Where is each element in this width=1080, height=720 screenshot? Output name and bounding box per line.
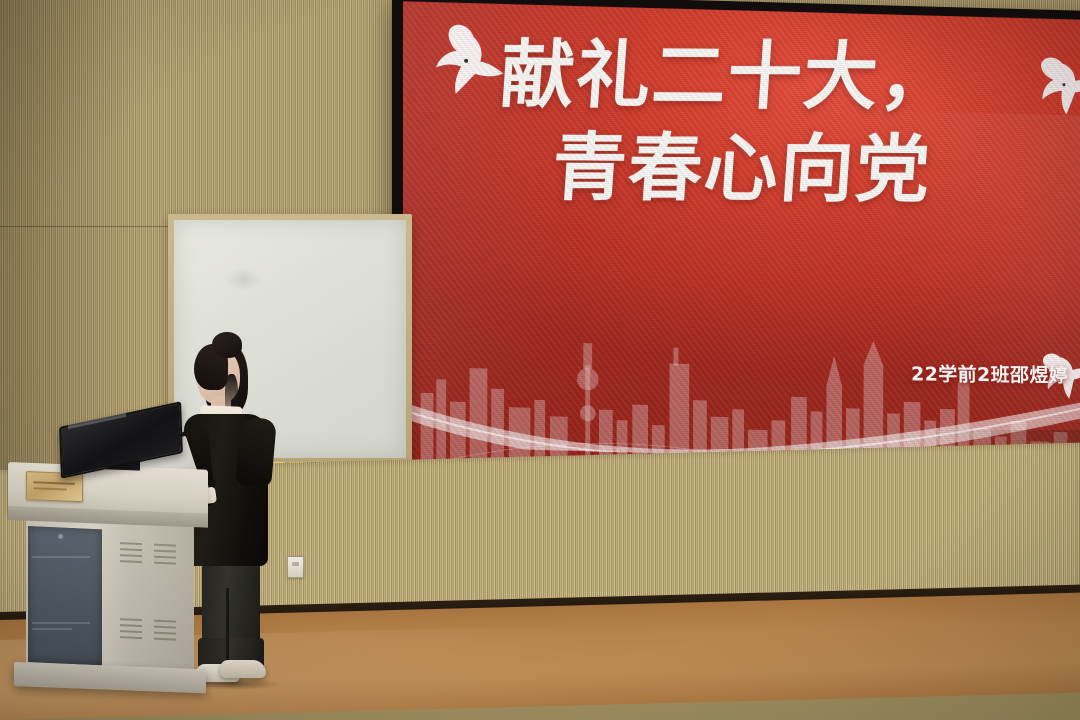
led-display-screen: 献礼二十大， 青春心向党 22学前2班邵煜婷: [403, 1, 1080, 499]
person-hair-bun: [212, 332, 242, 358]
whiteboard-smudge: [225, 268, 262, 292]
person-leg-separation: [226, 588, 229, 666]
person-jacket-shoulder: [235, 417, 277, 488]
podium-monitor[interactable]: [60, 414, 178, 470]
led-headline: 献礼二十大， 青春心向党: [491, 30, 1080, 217]
podium-vent-group: [118, 534, 184, 667]
presentation-scene: 献礼二十大， 青春心向党 22学前2班邵煜婷: [0, 0, 1080, 720]
nameplate-text-line: [33, 481, 75, 485]
podium-panel-line: [32, 556, 90, 558]
podium-panel-indicator: [58, 534, 63, 539]
headline-line-1: 献礼二十大，: [498, 36, 1080, 118]
lectern-podium: [8, 462, 208, 696]
person-shoe-right: [220, 660, 266, 678]
podium-front-panel: [28, 526, 102, 665]
headline-line-2: 青春心向党: [550, 129, 1080, 211]
podium-panel-line: [32, 628, 72, 630]
podium-panel-line: [32, 622, 90, 624]
nameplate-text-line: [33, 487, 67, 490]
presenter-name-tag: 22学前2班邵煜婷: [911, 359, 1069, 388]
